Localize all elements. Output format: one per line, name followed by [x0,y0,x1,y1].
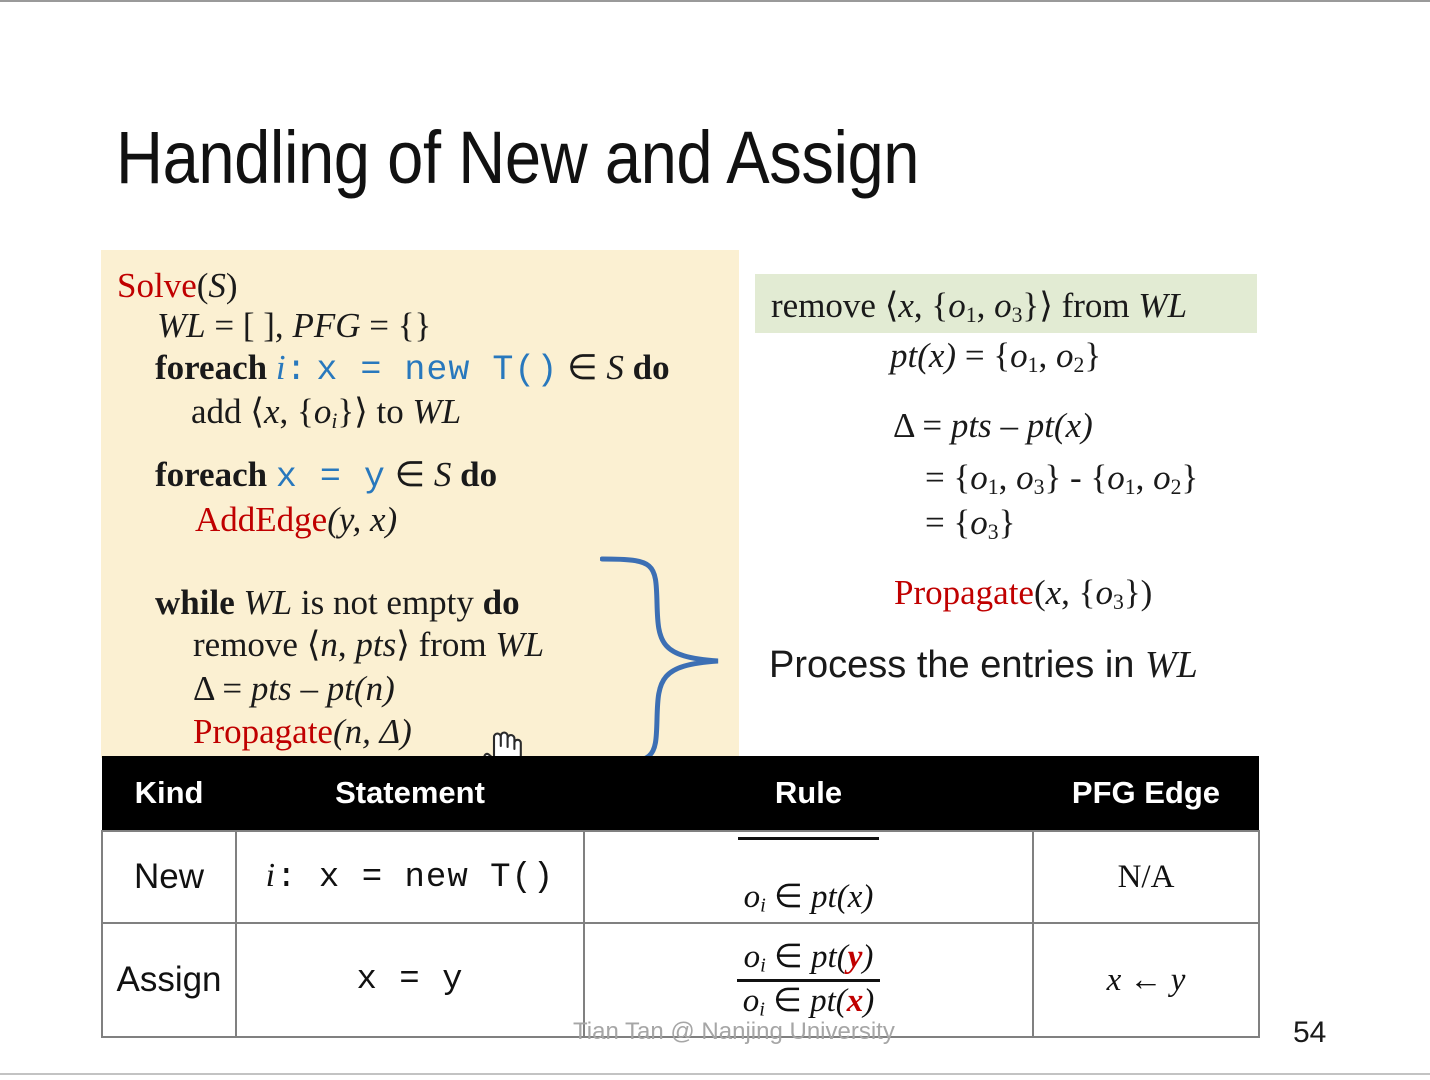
example-line-delta-1: Δ = pts – pt(x) [893,406,1093,446]
new-den-o: o [744,879,761,915]
ex-d2-c2: , [1136,458,1154,497]
cell-kind-new: New [102,831,236,923]
ex-propagate-o3: o [1095,573,1113,612]
foreach-keyword: foreach [155,348,267,387]
ex-d2-close2: } [1181,458,1198,497]
algo-line-solve-header: Solve(S) [117,268,238,303]
remove-pts: pts [355,625,396,664]
window-frame-bottom-edge [0,1073,1430,1075]
new-den-pt: pt [811,879,837,915]
axiom-numerator-empty [738,837,880,878]
ex-d3-eq: = { [925,503,970,542]
ex-delta-symbol: Δ [893,406,914,445]
ex-pt-comma: , [1038,336,1056,375]
edge-rhs: y [1171,962,1186,998]
delta-minus: – [292,669,327,708]
col-header-pfg-edge: PFG Edge [1033,756,1259,831]
edge-arrow-icon: ← [1121,962,1171,998]
ex-pt-eq: = { [956,336,1010,375]
ex-d2-o1: o [970,458,988,497]
algo-line-delta: Δ = pts – pt(n) [193,671,395,706]
algo-line-foreach-new: foreach i: x = new T() ∈ S do [155,350,670,388]
propagate-call: Propagate [193,712,333,751]
slide-canvas: Handling of New and Assign Solve(S) WL =… [0,3,1430,1073]
slide-page-number: 54 [1293,1016,1326,1050]
ex-delta-pt-fn: pt [1027,406,1054,445]
cell-statement-new: i: x = new T() [236,831,584,923]
ex-d2-close1: } - { [1044,458,1107,497]
ex-remove-close: }⟩ [1022,286,1052,325]
ex-delta-pts: pts [951,406,992,445]
ex-remove-wl: WL [1138,286,1187,325]
example-line-delta-2: = {o1, o3} - {o1, o2} [925,458,1198,500]
asg-den-var: x [847,983,864,1019]
remove-text: remove ⟨ [193,625,320,664]
delta-symbol: Δ [193,669,214,708]
ex-delta-pt-arg: (x) [1054,406,1093,445]
ex-remove-open: ⟨ [885,286,899,325]
ex-propagate-comma: , { [1061,573,1095,612]
pfg-symbol: PFG [292,306,360,345]
remove-n: n [320,625,338,664]
ex-remove-prefix: remove [771,286,885,325]
delta-pts: pts [251,669,292,708]
add-close: }⟩ to [337,392,412,431]
example-line-pt: pt(x) = {o1, o2} [890,336,1101,378]
ex-d2-o1-subscript: 1 [988,475,999,499]
ex-d3-o3: o [970,503,988,542]
table-header-row: Kind Statement Rule PFG Edge [102,756,1259,831]
remove-close: ⟩ from [396,625,495,664]
asg-num-pt: pt [811,939,837,975]
slide-footer: Tian Tan @ Nanjing University [573,1018,895,1046]
assign-lhs: x [276,457,298,497]
window-frame-top-edge [0,0,1430,2]
col-header-kind: Kind [102,756,236,831]
ex-remove-comma: , { [914,286,948,325]
inference-numerator: oi ∈ pt(y) [737,939,881,981]
solve-keyword: Solve [117,266,197,305]
assign-rhs: y [364,457,386,497]
assign-eq: = [320,457,342,497]
do-keyword-2: do [460,455,497,494]
propagate-args: (n, Δ) [333,712,412,751]
cell-pfg-edge-new: N/A [1033,831,1259,923]
caption-prefix: Process the entries in [769,644,1145,686]
remove-comma: , [338,625,356,664]
right-curly-brace-icon [600,555,735,770]
while-wl-symbol: WL [243,583,292,622]
ex-d2-o1b: o [1107,458,1125,497]
member-op-2: ∈ [386,455,434,494]
ex-remove-o3: o [994,286,1012,325]
delta-eq: = [214,669,251,708]
stmt-set-s: S [606,348,624,387]
asg-den-o: o [743,983,760,1019]
ex-remove-o1-subscript: 1 [966,303,977,327]
ex-d2-eq: = { [925,458,970,497]
asg-num-open: ( [837,939,848,975]
new-den-var: x [848,879,863,915]
ex-pt-o1: o [1010,336,1028,375]
stmt-label: i [276,348,286,387]
ex-pt-arg: (x) [917,336,956,375]
table-row: New i: x = new T() oi ∈ pt(x) N/A [102,831,1259,923]
ex-remove-var: x [898,286,914,325]
algo-line-init: WL = [ ], PFG = {} [157,308,431,343]
init-eq1: = [ ], [206,306,293,345]
cell-pfg-edge-assign: x ← y [1033,923,1259,1037]
caption-wl-symbol: WL [1145,644,1198,686]
cell-statement-assign: x = y [236,923,584,1037]
new-den-close: ) [862,879,873,915]
algo-line-remove: remove ⟨n, pts⟩ from WL [193,627,544,662]
example-caption: Process the entries in WL [769,643,1198,687]
asg-den-pt: pt [810,983,836,1019]
addedge-args: (y, x) [327,500,397,539]
example-line-propagate: Propagate(x, {o3}) [894,573,1152,615]
new-den-open: ( [837,879,848,915]
new-stmt-label: i [266,857,276,894]
add-obj: o [314,392,332,431]
while-keyword: while [155,583,235,622]
asg-den-close: ) [863,983,874,1019]
ex-propagate-close: }) [1124,573,1152,612]
ex-remove-o3-subscript: 3 [1012,303,1023,327]
add-wl-symbol: WL [413,392,462,431]
ex-propagate-o3-subscript: 3 [1113,590,1124,614]
while-do-keyword: do [483,583,520,622]
while-mid-text: is not empty [292,583,483,622]
add-sep: , { [280,392,314,431]
ex-d2-o2: o [1153,458,1171,497]
addedge-call: AddEdge [195,500,327,539]
member-op: ∈ [558,348,606,387]
col-header-statement: Statement [236,756,584,831]
asg-den-member: ∈ [765,983,810,1019]
ex-pt-fn: pt [890,336,917,375]
ex-d2-o3: o [1016,458,1034,497]
ex-delta-minus: – [992,406,1027,445]
inference-fraction: oi ∈ pt(y) oi ∈ pt(x) [737,939,881,1021]
add-var: x [264,392,280,431]
ex-pt-o2-subscript: 2 [1073,353,1084,377]
solve-arg: S [208,266,226,305]
ex-d2-o1b-subscript: 1 [1125,475,1136,499]
algo-line-propagate: Propagate(n, Δ) [193,714,412,749]
col-header-rule: Rule [584,756,1033,831]
ex-propagate-call: Propagate [894,573,1034,612]
add-text: add ⟨ [191,392,264,431]
ex-d3-close: } [999,503,1016,542]
delta-pt-fn: pt [327,669,354,708]
ex-propagate-open: ( [1034,573,1046,612]
algo-line-while: while WL is not empty do [155,585,520,620]
ex-pt-close: } [1084,336,1101,375]
ex-pt-o2: o [1056,336,1074,375]
inference-denominator: oi ∈ pt(x) [737,982,881,1021]
ex-d2-o3-subscript: 3 [1034,475,1045,499]
edge-lhs: x [1107,962,1122,998]
ex-pt-o1-subscript: 1 [1028,353,1039,377]
ex-remove-suffix: from [1053,286,1139,325]
asg-num-o: o [744,939,761,975]
remove-wl-symbol: WL [495,625,544,664]
axiom-fraction: oi ∈ pt(x) [738,837,880,917]
do-keyword: do [633,348,670,387]
asg-den-open: ( [836,983,847,1019]
page-title: Handling of New and Assign [116,115,919,200]
init-eq2: = {} [360,306,431,345]
asg-num-member: ∈ [766,939,811,975]
ex-d2-c1: , [999,458,1017,497]
ex-delta-eq: = [914,406,951,445]
rules-table: Kind Statement Rule PFG Edge New i: x = … [101,756,1260,1038]
axiom-denominator: oi ∈ pt(x) [738,878,880,917]
delta-pt-arg: (n) [354,669,395,708]
assign-set-s: S [434,455,452,494]
ex-propagate-var: x [1046,573,1062,612]
ex-d3-o3-subscript: 3 [988,520,999,544]
new-den-member: ∈ [766,879,811,915]
algo-line-addedge: AddEdge(y, x) [195,502,397,537]
example-line-delta-3: = {o3} [925,503,1015,545]
foreach-keyword-2: foreach [155,455,267,494]
algo-line-foreach-assign: foreach x = y ∈ S do [155,457,497,495]
example-line-remove: remove ⟨x, {o1, o3}⟩ from WL [771,286,1187,328]
algo-line-add-to-wl: add ⟨x, {oi}⟩ to WL [191,394,461,432]
asg-num-close: ) [862,939,873,975]
stmt-colon: : [286,350,308,390]
wl-symbol: WL [157,306,206,345]
asg-num-var: y [848,939,863,975]
ex-remove-o1: o [948,286,966,325]
cell-rule-new: oi ∈ pt(x) [584,831,1033,923]
ex-d2-o2-subscript: 2 [1171,475,1182,499]
new-statement-code: x = new T() [316,350,558,390]
cell-kind-assign: Assign [102,923,236,1037]
